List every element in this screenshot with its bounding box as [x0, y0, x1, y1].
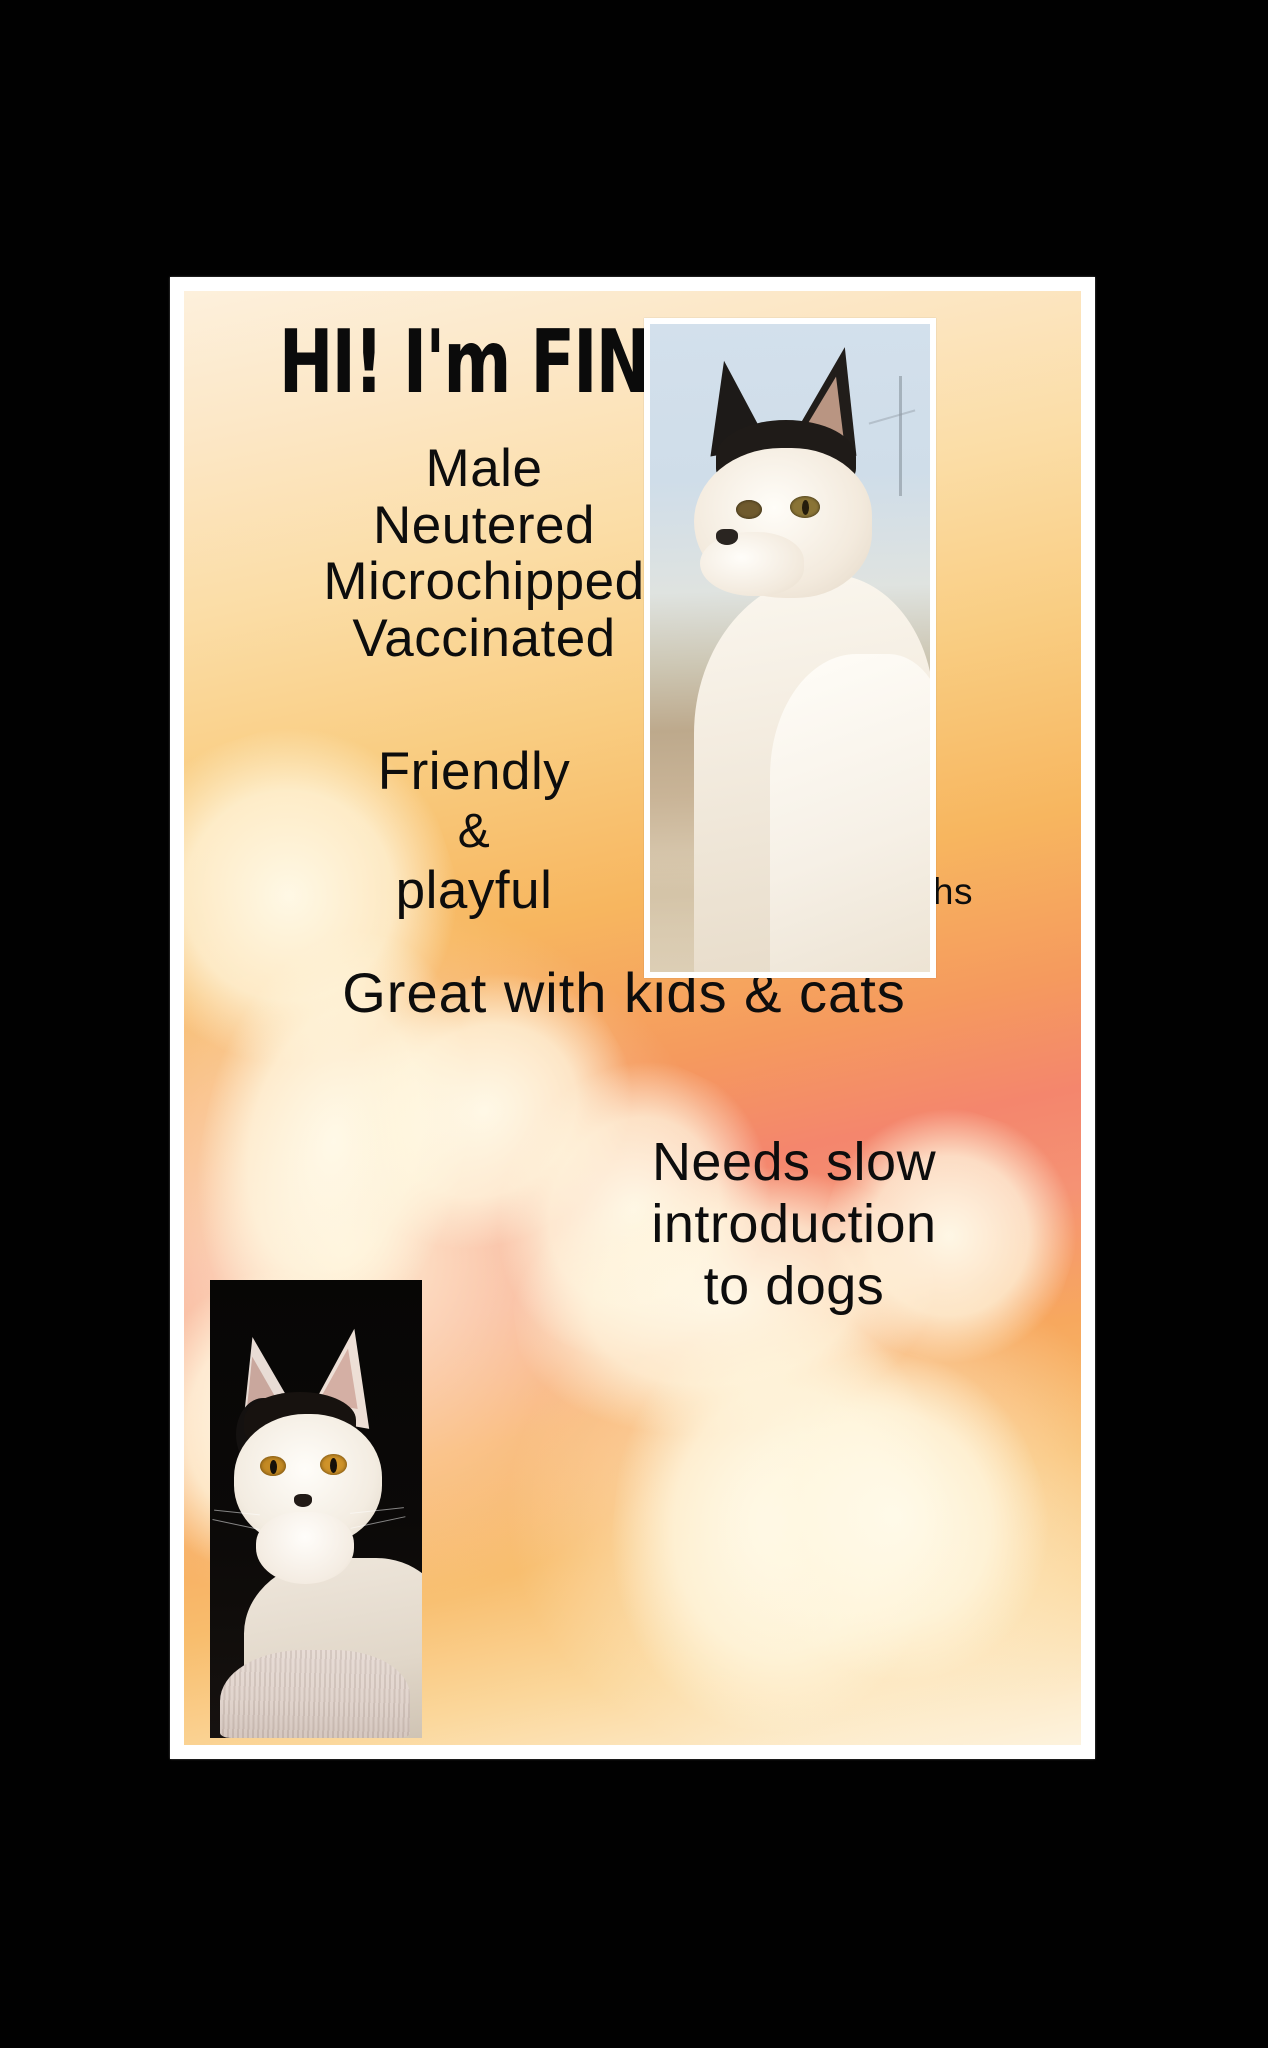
cat-nose [294, 1494, 312, 1507]
dog-note-line-2: introduction [544, 1193, 1044, 1255]
cat-pupil-right [330, 1458, 337, 1473]
cat-pupil-right [802, 500, 809, 515]
dog-note-line-1: Needs slow [544, 1131, 1044, 1193]
poster-backdrop: HI! I'm FINN! Male Neutered Microchipped… [0, 0, 1268, 2048]
flame-shape-icon [693, 1307, 1081, 1725]
cat-muzzle [700, 532, 804, 596]
cat-eye-left [736, 500, 762, 519]
poster-mat: HI! I'm FINN! Male Neutered Microchipped… [170, 277, 1095, 1759]
cat-muzzle [256, 1512, 354, 1584]
background-pole [899, 376, 902, 496]
dog-note-line-3: to dogs [544, 1255, 1044, 1317]
cat-chest [770, 654, 930, 972]
blanket [220, 1650, 410, 1738]
photo-finn-profile-outdoors [644, 318, 936, 978]
cat-pupil-left [270, 1460, 277, 1474]
cat-nose [716, 529, 738, 545]
photo-finn-portrait-indoors [210, 1280, 422, 1738]
dog-introduction-note: Needs slow introduction to dogs [544, 1131, 1044, 1317]
flame-shape-icon [593, 1295, 965, 1745]
poster-canvas: HI! I'm FINN! Male Neutered Microchipped… [184, 291, 1081, 1745]
background-wire [869, 409, 916, 424]
photo-finn-profile-image [650, 324, 930, 972]
